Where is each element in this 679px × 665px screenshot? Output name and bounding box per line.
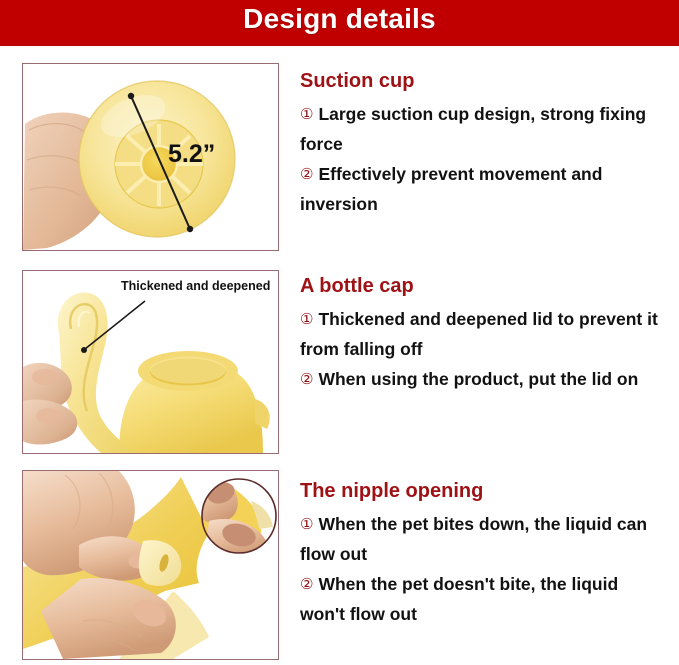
bullet-text: When using the product, put the lid on (318, 369, 638, 389)
bullet-text: Large suction cup design, strong fixing … (300, 104, 646, 154)
page-title: Design details (0, 3, 679, 35)
bullet-item: ①Thickened and deepened lid to prevent i… (300, 304, 662, 364)
section-title-bottle-cap: A bottle cap (300, 275, 662, 297)
bullet-marker: ② (300, 576, 313, 593)
bottle-cap-illustration (23, 271, 278, 453)
bullet-text: Effectively prevent movement and inversi… (300, 164, 602, 214)
bullet-item: ②Effectively prevent movement and invers… (300, 159, 662, 219)
bullet-marker: ② (300, 166, 313, 183)
bullet-item: ①When the pet bites down, the liquid can… (300, 509, 662, 569)
suction-cup-illustration (23, 64, 278, 250)
nipple-opening-photo (22, 470, 279, 660)
bullet-marker: ① (300, 311, 313, 328)
dimension-label: 5.2” (168, 140, 215, 169)
section-nipple-opening: The nipple opening ①When the pet bites d… (300, 480, 662, 629)
bullet-item: ②When using the product, put the lid on (300, 364, 662, 394)
bullet-marker: ① (300, 516, 313, 533)
bullet-text: When the pet bites down, the liquid can … (300, 514, 647, 564)
section-title-suction-cup: Suction cup (300, 70, 662, 92)
bullet-text: Thickened and deepened lid to prevent it… (300, 309, 658, 359)
suction-cup-photo: 5.2” (22, 63, 279, 251)
bullet-marker: ① (300, 106, 313, 123)
bullet-item: ①Large suction cup design, strong fixing… (300, 99, 662, 159)
section-suction-cup: Suction cup ①Large suction cup design, s… (300, 70, 662, 219)
callout-label-thickened: Thickened and deepened (121, 279, 270, 293)
bullet-marker: ② (300, 371, 313, 388)
design-details-infographic: Design details (0, 0, 679, 665)
section-title-nipple-opening: The nipple opening (300, 480, 662, 502)
bullet-text: When the pet doesn't bite, the liquid wo… (300, 574, 618, 624)
nipple-opening-illustration (23, 471, 278, 659)
bullet-item: ②When the pet doesn't bite, the liquid w… (300, 569, 662, 629)
section-bottle-cap: A bottle cap ①Thickened and deepened lid… (300, 275, 662, 394)
header-banner: Design details (0, 0, 679, 46)
bottle-cap-photo: Thickened and deepened (22, 270, 279, 454)
